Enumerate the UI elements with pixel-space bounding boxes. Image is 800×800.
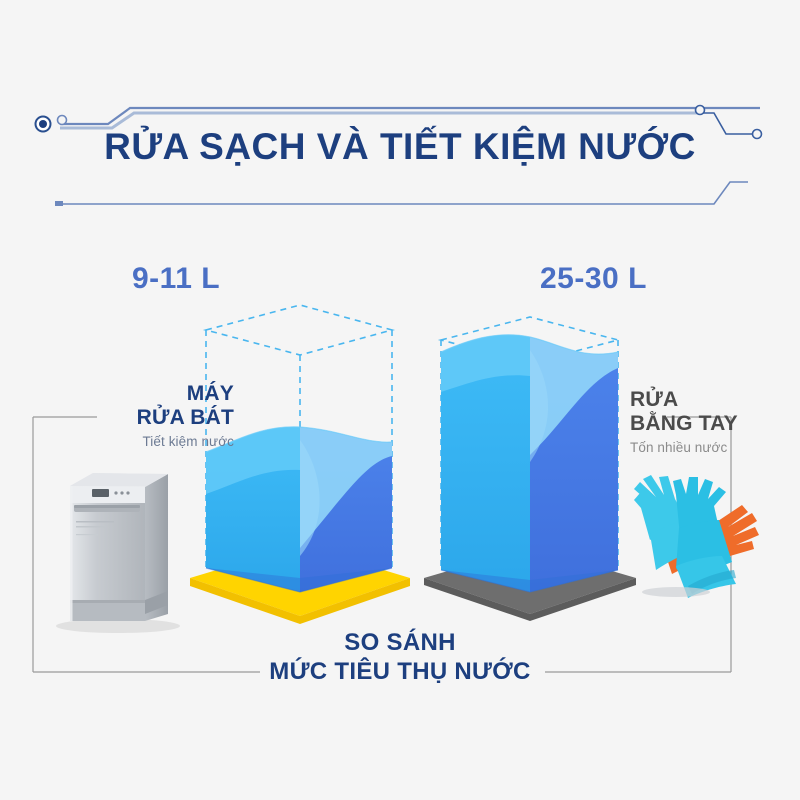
infographic-canvas: RỬA SẠCH VÀ TIẾT KIỆM NƯỚC 9-11 L 25-30 … xyxy=(0,0,800,800)
caption-line1: SO SÁNH xyxy=(200,628,600,657)
dishwasher-headline-line1: MÁY xyxy=(78,382,234,406)
dishwasher-subtitle: Tiết kiệm nước xyxy=(78,434,234,449)
caption-line2: MỨC TIÊU THỤ NƯỚC xyxy=(200,657,600,686)
comparison-caption: SO SÁNH MỨC TIÊU THỤ NƯỚC xyxy=(200,628,600,687)
handwash-headline-line1: RỬA xyxy=(630,388,790,412)
dishwasher-headline-line2: RỬA BÁT xyxy=(78,406,234,430)
label-block-handwash: RỬA BẰNG TAY Tốn nhiều nước xyxy=(630,388,790,455)
label-block-dishwasher: MÁY RỬA BÁT Tiết kiệm nước xyxy=(78,382,234,449)
handwash-subtitle: Tốn nhiều nước xyxy=(630,440,790,455)
handwash-headline-line2: BẰNG TAY xyxy=(630,412,790,436)
